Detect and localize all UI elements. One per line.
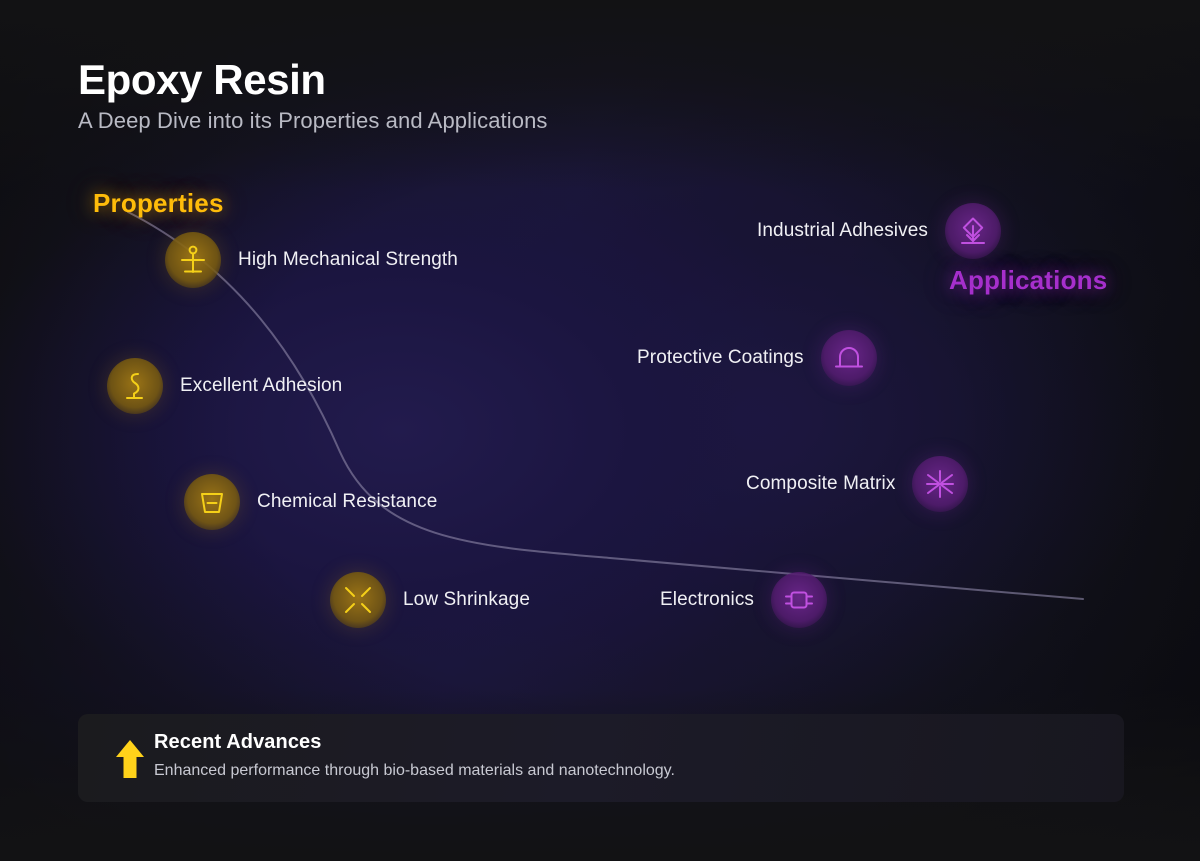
fiber-burst-icon <box>912 456 968 512</box>
application-item-electronics[interactable]: Electronics <box>660 572 827 628</box>
application-item-composite-matrix[interactable]: Composite Matrix <box>746 456 968 512</box>
dome-shield-icon <box>821 330 877 386</box>
shrink-arrows-icon <box>330 572 386 628</box>
recent-advances-card[interactable]: Recent Advances Enhanced performance thr… <box>78 714 1124 802</box>
property-item-high-mechanical-strength[interactable]: High Mechanical Strength <box>165 232 458 288</box>
card-title: Recent Advances <box>154 731 322 754</box>
infographic-canvas: Epoxy Resin A Deep Dive into its Propert… <box>0 0 1200 861</box>
strength-icon <box>165 232 221 288</box>
application-label: Industrial Adhesives <box>757 220 928 242</box>
property-label: Excellent Adhesion <box>180 375 342 397</box>
page-title: Epoxy Resin <box>78 58 326 102</box>
diamond-anchor-icon <box>945 203 1001 259</box>
application-label: Electronics <box>660 589 754 611</box>
page-subtitle: A Deep Dive into its Properties and Appl… <box>78 108 548 134</box>
application-label: Composite Matrix <box>746 473 895 495</box>
property-label: Chemical Resistance <box>257 491 437 513</box>
section-label-applications: Applications <box>949 265 1107 296</box>
application-item-protective-coatings[interactable]: Protective Coatings <box>637 330 877 386</box>
application-label: Protective Coatings <box>637 347 804 369</box>
beaker-icon <box>184 474 240 530</box>
up-arrow-icon <box>108 736 152 782</box>
property-item-excellent-adhesion[interactable]: Excellent Adhesion <box>107 358 342 414</box>
microchip-icon <box>771 572 827 628</box>
card-body: Enhanced performance through bio-based m… <box>154 762 675 780</box>
property-label: Low Shrinkage <box>403 589 530 611</box>
adhesion-droplet-icon <box>107 358 163 414</box>
property-label: High Mechanical Strength <box>238 249 458 271</box>
application-item-industrial-adhesives[interactable]: Industrial Adhesives <box>757 203 1001 259</box>
property-item-chemical-resistance[interactable]: Chemical Resistance <box>184 474 437 530</box>
property-item-low-shrinkage[interactable]: Low Shrinkage <box>330 572 530 628</box>
section-label-properties: Properties <box>93 188 224 219</box>
